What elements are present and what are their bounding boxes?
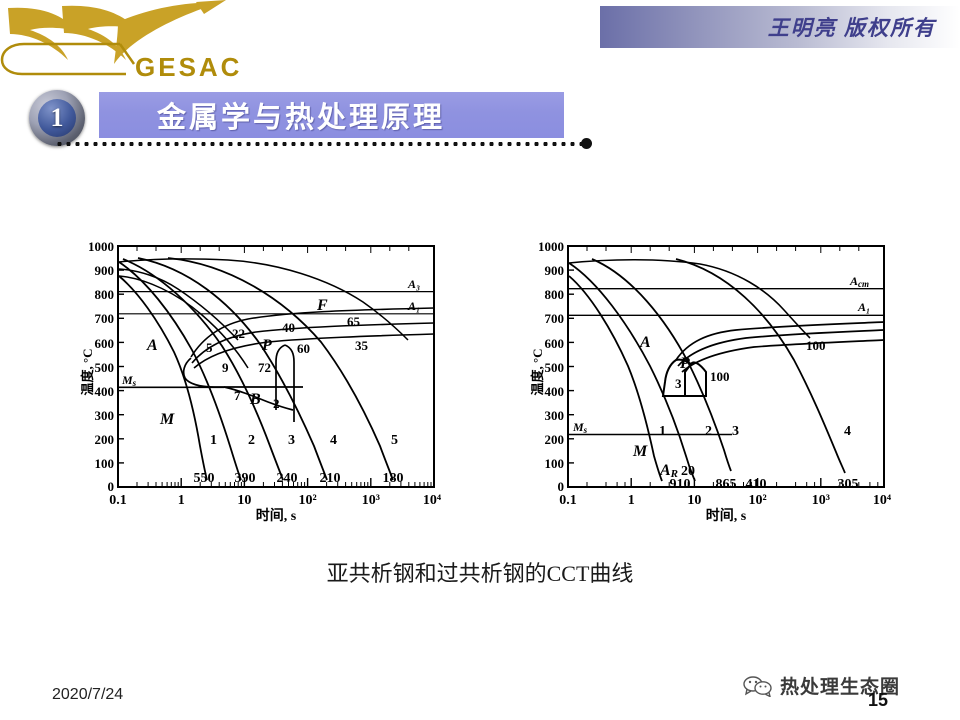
badge-number: 1 — [51, 103, 64, 133]
x-axis-title: 时间, s — [706, 507, 747, 522]
cct-chart-right-svg: 1000 900 800 700 600 500 400 300 200 100… — [528, 232, 896, 522]
svg-text:550: 550 — [194, 471, 215, 486]
svg-text:100: 100 — [710, 369, 730, 384]
svg-text:1000: 1000 — [88, 239, 114, 254]
svg-text:865: 865 — [716, 477, 737, 492]
svg-text:600: 600 — [95, 336, 115, 351]
svg-text:1: 1 — [628, 493, 635, 508]
svg-text:200: 200 — [95, 432, 115, 447]
svg-text:10³: 10³ — [362, 493, 380, 508]
svg-text:3: 3 — [732, 424, 739, 439]
page-number: 15 — [868, 690, 888, 711]
svg-text:9: 9 — [222, 360, 229, 375]
copyright-notice: 王明亮 版权所有 — [768, 12, 936, 42]
svg-text:400: 400 — [95, 384, 115, 399]
cct-chart-left-svg: 1000 900 800 700 600 500 400 300 200 100… — [78, 232, 446, 522]
svg-text:240: 240 — [277, 471, 298, 486]
region-label-A: A — [639, 334, 651, 351]
svg-text:0.1: 0.1 — [559, 493, 577, 508]
svg-text:3: 3 — [675, 376, 682, 391]
svg-text:100: 100 — [545, 456, 565, 471]
region-label-M: M — [632, 443, 648, 460]
slide-number-badge: 1 — [29, 90, 85, 146]
gesac-wordmark: GESAC — [135, 52, 242, 83]
svg-text:0: 0 — [108, 479, 115, 494]
svg-text:410: 410 — [746, 477, 767, 492]
svg-text:7: 7 — [234, 388, 241, 403]
svg-text:10²: 10² — [748, 493, 766, 508]
svg-text:40: 40 — [282, 320, 295, 335]
svg-text:2: 2 — [705, 424, 712, 439]
svg-text:180: 180 — [383, 471, 404, 486]
svg-text:390: 390 — [235, 471, 256, 486]
gesac-logo: GESAC — [0, 0, 245, 84]
svg-text:100: 100 — [95, 456, 115, 471]
svg-text:600: 600 — [545, 336, 565, 351]
svg-text:1: 1 — [210, 433, 217, 448]
region-label-B: B — [249, 391, 261, 408]
svg-text:400: 400 — [545, 384, 565, 399]
region-label-M: M — [159, 411, 175, 428]
region-label-P: P — [679, 355, 690, 372]
svg-text:10³: 10³ — [812, 493, 830, 508]
svg-text:10⁴: 10⁴ — [873, 493, 892, 508]
svg-text:22: 22 — [232, 326, 245, 341]
svg-text:800: 800 — [95, 287, 115, 302]
svg-text:900: 900 — [95, 263, 115, 278]
x-axis-title: 时间, s — [256, 507, 297, 522]
svg-text:300: 300 — [95, 408, 115, 423]
svg-text:3: 3 — [288, 433, 295, 448]
svg-text:35: 35 — [355, 338, 369, 353]
svg-text:910: 910 — [670, 477, 691, 492]
svg-text:500: 500 — [95, 360, 115, 375]
svg-text:72: 72 — [258, 360, 271, 375]
region-label-F: F — [316, 297, 328, 314]
figure-caption: 亚共析钢和过共析钢的CCT曲线 — [0, 556, 960, 588]
svg-text:900: 900 — [545, 263, 565, 278]
label-A1: A₁ — [857, 300, 870, 314]
y-axis-title: 温度, °C — [80, 348, 95, 395]
svg-text:10: 10 — [237, 493, 251, 508]
svg-text:1: 1 — [659, 424, 666, 439]
svg-text:10²: 10² — [298, 493, 316, 508]
svg-text:700: 700 — [545, 311, 565, 326]
cct-chart-hypereutectoid: 1000 900 800 700 600 500 400 300 200 100… — [528, 232, 896, 522]
y-axis-title: 温度, °C — [530, 348, 545, 395]
svg-text:60: 60 — [297, 341, 310, 356]
region-label-P: P — [261, 337, 272, 354]
title-dotted-rule — [55, 142, 583, 146]
svg-text:210: 210 — [320, 471, 341, 486]
title-bar: 金属学与热处理原理 — [99, 92, 564, 138]
svg-text:5: 5 — [206, 340, 213, 355]
slide: 王明亮 版权所有 GESAC 1 金属学与热处理原理 1000 900 — [0, 0, 960, 720]
x-axis-labels: 0.1 1 10 10² 10³ 10⁴ — [559, 493, 892, 508]
svg-text:2: 2 — [273, 396, 280, 411]
svg-text:500: 500 — [545, 360, 565, 375]
svg-text:4: 4 — [330, 433, 337, 448]
label-A1: A₁ — [407, 299, 420, 313]
svg-text:10: 10 — [687, 493, 701, 508]
cct-chart-hypoeutectoid: 1000 900 800 700 600 500 400 300 200 100… — [78, 232, 446, 522]
label-A3: A₃ — [407, 277, 420, 291]
slide-date: 2020/7/24 — [52, 686, 123, 704]
svg-text:1000: 1000 — [538, 239, 564, 254]
svg-text:4: 4 — [844, 424, 851, 439]
svg-text:200: 200 — [545, 432, 565, 447]
svg-text:300: 300 — [545, 408, 565, 423]
wechat-icon — [743, 675, 773, 697]
svg-text:800: 800 — [545, 287, 565, 302]
svg-text:100: 100 — [806, 338, 826, 353]
page-title: 金属学与热处理原理 — [157, 94, 445, 136]
x-axis-labels: 0.1 1 10 10² 10³ 10⁴ — [109, 493, 442, 508]
svg-text:1: 1 — [178, 493, 185, 508]
svg-text:5: 5 — [391, 433, 398, 448]
svg-text:0: 0 — [558, 479, 565, 494]
region-label-A: A — [146, 337, 158, 354]
dotted-rule-end-dot — [581, 138, 592, 149]
svg-text:2: 2 — [248, 433, 255, 448]
svg-text:65: 65 — [347, 314, 361, 329]
svg-text:305: 305 — [838, 477, 859, 492]
svg-text:10⁴: 10⁴ — [423, 493, 442, 508]
svg-text:0.1: 0.1 — [109, 493, 127, 508]
svg-text:700: 700 — [95, 311, 115, 326]
